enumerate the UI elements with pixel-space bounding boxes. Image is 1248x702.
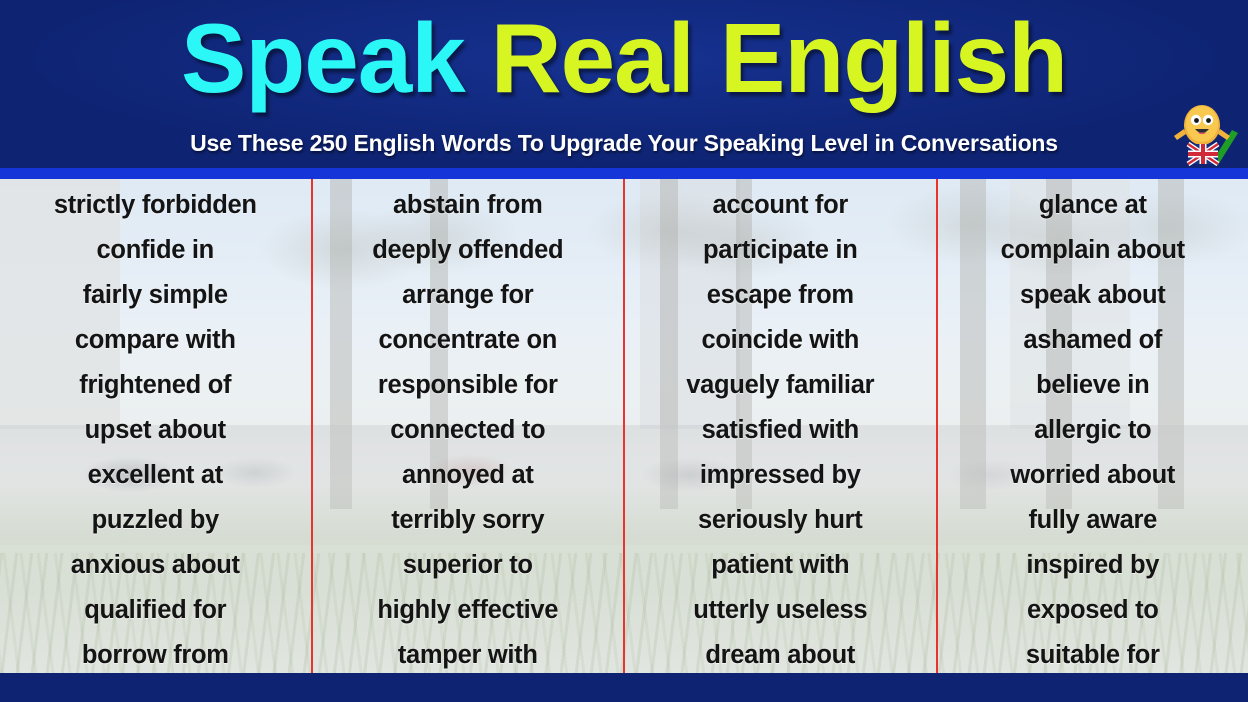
phrase-item: tamper with bbox=[398, 643, 538, 669]
phrase-item: dream about bbox=[705, 643, 855, 669]
phrase-item: annoyed at bbox=[402, 463, 534, 489]
phrase-item: worried about bbox=[1010, 463, 1175, 489]
phrase-item: qualified for bbox=[84, 598, 226, 624]
phrase-item: believe in bbox=[1036, 373, 1149, 399]
phrase-column-4: glance at complain about speak about ash… bbox=[936, 179, 1248, 673]
title-word-speak: Speak bbox=[181, 9, 465, 107]
phrase-item: compare with bbox=[75, 328, 236, 354]
phrase-item: inspired by bbox=[1026, 553, 1159, 579]
phrase-item: borrow from bbox=[82, 643, 229, 669]
phrase-item: suitable for bbox=[1026, 643, 1160, 669]
phrase-item: confide in bbox=[97, 238, 214, 264]
phrase-item: concentrate on bbox=[378, 328, 557, 354]
phrase-item: strictly forbidden bbox=[54, 193, 257, 219]
phrase-item: participate in bbox=[703, 238, 858, 264]
phrase-item: superior to bbox=[403, 553, 533, 579]
phrase-item: puzzled by bbox=[92, 508, 219, 534]
phrase-item: allergic to bbox=[1034, 418, 1151, 444]
phrase-item: anxious about bbox=[71, 553, 240, 579]
phrase-item: coincide with bbox=[701, 328, 859, 354]
phrase-item: exposed to bbox=[1027, 598, 1159, 624]
phrase-item: utterly useless bbox=[693, 598, 867, 624]
poster-root: Speak Real English Use These 250 English… bbox=[0, 0, 1248, 702]
phrase-item: deeply offended bbox=[372, 238, 563, 264]
subtitle-text: Use These 250 English Words To Upgrade Y… bbox=[190, 130, 1058, 157]
phrase-item: vaguely familiar bbox=[686, 373, 874, 399]
phrase-item: frightened of bbox=[79, 373, 231, 399]
header-accent-strip bbox=[0, 168, 1248, 179]
phrase-item: impressed by bbox=[700, 463, 861, 489]
footer-band bbox=[0, 673, 1248, 702]
page-title: Speak Real English bbox=[0, 2, 1248, 114]
mascot-egg-icon bbox=[1168, 103, 1242, 168]
phrase-item: escape from bbox=[707, 283, 854, 309]
phrase-item: satisfied with bbox=[702, 418, 859, 444]
phrase-column-1: strictly forbidden confide in fairly sim… bbox=[0, 179, 311, 673]
phrase-item: excellent at bbox=[88, 463, 223, 489]
phrase-item: abstain from bbox=[393, 193, 542, 219]
phrase-item: ashamed of bbox=[1023, 328, 1162, 354]
phrase-column-2: abstain from deeply offended arrange for… bbox=[311, 179, 624, 673]
phrase-item: fully aware bbox=[1028, 508, 1157, 534]
phrase-item: patient with bbox=[711, 553, 849, 579]
phrase-item: upset about bbox=[85, 418, 226, 444]
phrase-item: speak about bbox=[1020, 283, 1166, 309]
phrase-columns: strictly forbidden confide in fairly sim… bbox=[0, 179, 1248, 673]
phrase-item: terribly sorry bbox=[391, 508, 544, 534]
phrase-item: connected to bbox=[390, 418, 545, 444]
phrase-item: arrange for bbox=[402, 283, 533, 309]
title-word-real-english: Real English bbox=[491, 9, 1067, 107]
subtitle: Use These 250 English Words To Upgrade Y… bbox=[0, 124, 1248, 162]
phrase-board: strictly forbidden confide in fairly sim… bbox=[0, 179, 1248, 673]
phrase-item: fairly simple bbox=[83, 283, 228, 309]
phrase-column-3: account for participate in escape from c… bbox=[623, 179, 936, 673]
phrase-item: highly effective bbox=[377, 598, 558, 624]
header-banner: Speak Real English Use These 250 English… bbox=[0, 0, 1248, 168]
phrase-item: complain about bbox=[1001, 238, 1185, 264]
phrase-item: seriously hurt bbox=[698, 508, 862, 534]
phrase-item: glance at bbox=[1039, 193, 1147, 219]
phrase-item: responsible for bbox=[378, 373, 558, 399]
phrase-item: account for bbox=[712, 193, 848, 219]
